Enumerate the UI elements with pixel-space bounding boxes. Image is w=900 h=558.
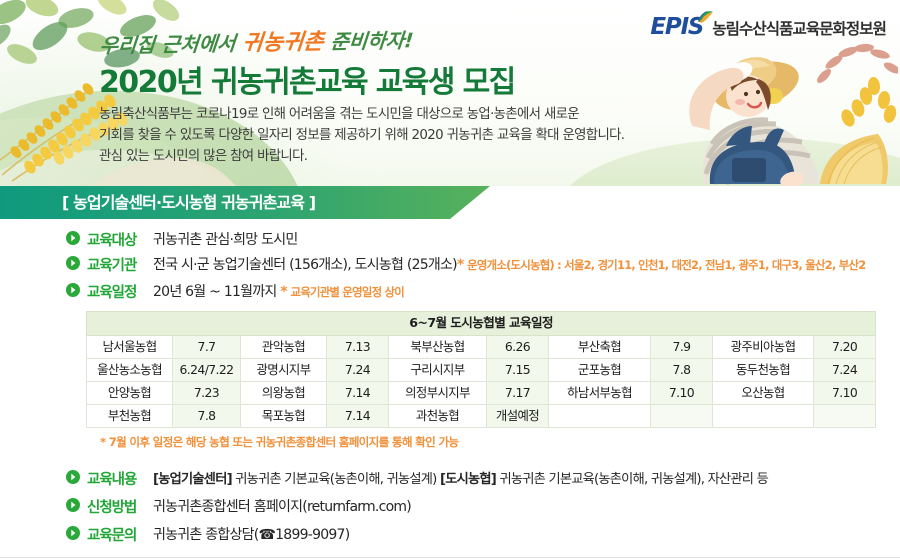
epis-wordmark-text: EPIS — [650, 14, 703, 40]
table-cell-empty — [814, 405, 876, 428]
table-cell-name: 오산농협 — [713, 382, 814, 405]
table-cell-date: 7.23 — [173, 382, 241, 405]
section-banner: [ 농업기술센터·도시농협 귀농귀촌교육 ] — [0, 186, 900, 219]
table-cell-date: 7.8 — [173, 405, 241, 428]
table-cell-empty — [713, 405, 814, 428]
table-cell-date: 7.7 — [173, 336, 241, 359]
table-cell-name: 부천농협 — [87, 405, 173, 428]
table-cell-name: 안양농협 — [87, 382, 173, 405]
info-row-value: [농업기술센터] 귀농귀촌 기본교육(농촌이해, 귀농설계) [도시농협] 귀농… — [153, 468, 768, 487]
hero-description-line-1: 농림축산식품부는 코로나19로 인해 어려움을 겪는 도시민을 대상으로 농업·… — [99, 104, 624, 125]
info-row-value: 귀농귀촌 종합상담(☎1899-9097) — [153, 524, 349, 544]
content-center-tag: [농업기술센터] — [153, 472, 232, 487]
table-cell-name: 광명시지부 — [241, 359, 327, 382]
table-cell-empty — [549, 405, 651, 428]
hero-script-line: 우리집 근처에서 귀농귀촌 준비하자! — [98, 22, 415, 59]
info-row-label: 교육문의 — [87, 524, 153, 545]
table-cell-name: 동두천농협 — [713, 359, 814, 382]
epis-logo-name: 농림수산식품교육문화정보원 — [712, 17, 886, 39]
table-cell-name: 과천농협 — [389, 405, 487, 428]
hero-section: EPIS 농림수산식품교육문화정보원 — [0, 0, 900, 186]
info-row-label: 교육내용 — [87, 468, 153, 489]
poster-root: EPIS 농림수산식품교육문화정보원 — [0, 0, 900, 558]
table-cell-date: 7.10 — [651, 382, 713, 405]
table-title: 6~7월 도시농협별 교육일정 — [87, 312, 876, 336]
script-suffix: 준비하자! — [323, 28, 415, 54]
arrow-bullet-icon — [66, 231, 80, 245]
table-cell-name: 북부산농협 — [389, 336, 487, 359]
content-coop-text: 귀농귀촌 기본교육(농촌이해, 귀농설계), 자산관리 등 — [496, 472, 768, 487]
section-banner-label: [ 농업기술센터·도시농협 귀농귀촌교육 ] — [62, 186, 315, 219]
arrow-bullet-icon — [66, 470, 80, 484]
page-title: 2020년 귀농귀촌교육 교육생 모집 — [99, 57, 515, 101]
script-prefix: 우리집 근처에서 — [99, 31, 244, 57]
hero-description-line-3: 관심 있는 도시민의 많은 참여 바랍니다. — [99, 146, 624, 167]
table-cell-empty — [651, 405, 713, 428]
table-cell-date: 7.8 — [651, 359, 713, 382]
arrow-bullet-icon — [66, 498, 80, 512]
footnote-asterisk: * — [457, 257, 464, 273]
hero-description-line-2: 기회를 찾을 수 있도록 다양한 일자리 정보를 제공하기 위해 2020 귀농… — [99, 125, 624, 146]
info-row-target: 교육대상 귀농귀촌 관심·희망 도시민 — [66, 229, 298, 250]
info-row-value: 전국 시·군 농업기술센터 (156개소), 도시농협 (25개소)* 운영개소… — [153, 254, 865, 274]
footnote-asterisk: * — [280, 284, 287, 300]
table-cell-date: 7.17 — [487, 382, 549, 405]
farmer-illustration — [652, 34, 898, 186]
content-coop-tag: [도시농협] — [440, 472, 496, 487]
table-cell-name: 하남서부농협 — [549, 382, 651, 405]
table-cell-date: 6.26 — [487, 336, 549, 359]
table-row: 부천농협 7.8 목포농협 7.14 과천농협 개설예정 — [87, 405, 876, 428]
table-cell-name: 군포농협 — [549, 359, 651, 382]
table-cell-name: 광주비아농협 — [713, 336, 814, 359]
table-footnote: * 7월 이후 일정은 해당 농협 또는 귀농귀촌종합센터 홈페이지를 통해 확… — [100, 434, 458, 450]
epis-logo: EPIS 농림수산식품교육문화정보원 — [650, 16, 886, 39]
table-cell-date: 개설예정 — [487, 405, 549, 428]
table-cell-name: 관악농협 — [241, 336, 327, 359]
rice-bundle — [815, 43, 898, 184]
info-row-note: 운영개소(도시농협) : 서울2, 경기11, 인천1, 대전2, 전남1, 광… — [467, 258, 865, 272]
table-row: 남서울농협 7.7 관악농협 7.13 북부산농협 6.26 부산축협 7.9 … — [87, 336, 876, 359]
table-cell-date: 7.24 — [327, 359, 389, 382]
info-row-value: 귀농귀촌 관심·희망 도시민 — [153, 229, 298, 249]
content-center-text: 귀농귀촌 기본교육(농촌이해, 귀농설계) — [232, 472, 440, 487]
info-row-value-text: 20년 6월 ~ 11월까지 — [153, 284, 277, 300]
table-row: 안양농협 7.23 의왕농협 7.14 의정부시지부 7.17 하남서부농협 7… — [87, 382, 876, 405]
info-row-content: 교육내용 [농업기술센터] 귀농귀촌 기본교육(농촌이해, 귀농설계) [도시농… — [66, 468, 768, 489]
table-header-row: 6~7월 도시농협별 교육일정 — [87, 312, 876, 336]
info-row-label: 교육일정 — [87, 281, 153, 302]
table-cell-date: 6.24/7.22 — [173, 359, 241, 382]
table-cell-name: 의왕농협 — [241, 382, 327, 405]
table-cell-date: 7.9 — [651, 336, 713, 359]
info-row-inquiry: 교육문의 귀농귀촌 종합상담(☎1899-9097) — [66, 524, 349, 545]
table-cell-date: 7.13 — [327, 336, 389, 359]
table-body: 남서울농협 7.7 관악농협 7.13 북부산농협 6.26 부산축협 7.9 … — [87, 336, 876, 428]
epis-wordmark-icon: EPIS — [650, 16, 703, 39]
info-row-label: 교육기관 — [87, 254, 153, 275]
info-row-value[interactable]: 귀농귀촌종합센터 홈페이지(returnfarm.com) — [153, 496, 411, 516]
table-cell-name: 의정부시지부 — [389, 382, 487, 405]
info-row-period: 교육일정 20년 6월 ~ 11월까지 * 교육기관별 운영일정 상이 — [66, 281, 404, 302]
table-cell-date: 7.20 — [814, 336, 876, 359]
table-cell-date: 7.24 — [814, 359, 876, 382]
table-cell-name: 남서울농협 — [87, 336, 173, 359]
info-row-value-text: 전국 시·군 농업기술센터 (156개소), 도시농협 (25개소) — [153, 257, 457, 273]
table-cell-date: 7.14 — [327, 405, 389, 428]
table-cell-name: 목포농협 — [241, 405, 327, 428]
table-cell-date: 7.15 — [487, 359, 549, 382]
info-row-apply: 신청방법 귀농귀촌종합센터 홈페이지(returnfarm.com) — [66, 496, 411, 517]
table-cell-date: 7.10 — [814, 382, 876, 405]
table-cell-name: 구리시지부 — [389, 359, 487, 382]
table-cell-date: 7.14 — [327, 382, 389, 405]
info-row-label: 신청방법 — [87, 496, 153, 517]
arrow-bullet-icon — [66, 283, 80, 297]
arrow-bullet-icon — [66, 256, 80, 270]
script-highlight: 귀농귀촌 — [241, 30, 324, 56]
table-row: 울산농소농협 6.24/7.22 광명시지부 7.24 구리시지부 7.15 군… — [87, 359, 876, 382]
info-row-label: 교육대상 — [87, 229, 153, 250]
info-row-value: 20년 6월 ~ 11월까지 * 교육기관별 운영일정 상이 — [153, 281, 404, 301]
schedule-table: 6~7월 도시농협별 교육일정 남서울농협 7.7 관악농협 7.13 북부산농… — [86, 311, 876, 428]
table-cell-name: 울산농소농협 — [87, 359, 173, 382]
hero-description: 농림축산식품부는 코로나19로 인해 어려움을 겪는 도시민을 대상으로 농업·… — [99, 104, 624, 167]
info-row-note: 교육기관별 운영일정 상이 — [291, 285, 404, 299]
arrow-bullet-icon — [66, 526, 80, 540]
epis-swoosh-icon — [697, 10, 714, 23]
table-cell-name: 부산축협 — [549, 336, 651, 359]
info-row-institution: 교육기관 전국 시·군 농업기술센터 (156개소), 도시농협 (25개소)*… — [66, 254, 865, 275]
